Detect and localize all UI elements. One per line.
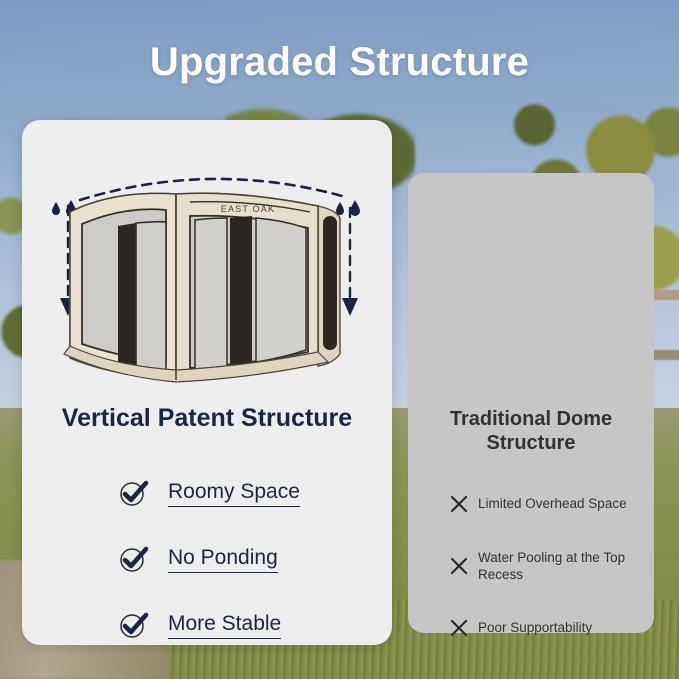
feature-item-roomy-space: Roomy Space <box>22 460 392 526</box>
vertical-drop-arrowhead-right <box>342 298 358 316</box>
check-circle-icon <box>118 610 148 640</box>
traditional-dome-card: Traditional Dome Structure Limited Overh… <box>408 173 654 633</box>
feature-label: More Stable <box>168 611 281 639</box>
drawback-item-limited-overhead-space: Limited Overhead Space <box>408 473 654 535</box>
feature-list: Roomy Space No Ponding M <box>22 460 392 658</box>
feature-item-more-stable: More Stable <box>22 592 392 658</box>
drawback-label: Poor Supportability <box>478 619 592 636</box>
x-mark-icon <box>450 557 468 575</box>
drawback-label: Water Pooling at the Top Recess <box>478 549 630 584</box>
feature-label: No Ponding <box>168 545 278 573</box>
drawback-label: Limited Overhead Space <box>478 495 627 512</box>
drawback-item-poor-supportability: Poor Supportability <box>408 597 654 659</box>
drawback-item-water-pooling: Water Pooling at the Top Recess <box>408 535 654 597</box>
product-comparison-image: Upgraded Structure <box>0 0 679 679</box>
x-mark-icon <box>450 619 468 637</box>
feature-item-no-ponding: No Ponding <box>22 526 392 592</box>
page-title: Upgraded Structure <box>0 40 679 85</box>
vertical-patent-card: EAST OAK Vertical Patent Structure <box>22 120 392 645</box>
feature-label: Roomy Space <box>168 479 300 507</box>
check-circle-icon <box>118 478 148 508</box>
traditional-dome-title-line1: Traditional Dome <box>450 408 612 430</box>
brand-logo-text: EAST OAK <box>221 204 275 214</box>
check-circle-icon <box>118 544 148 574</box>
vertical-patent-tent-body: EAST OAK <box>64 193 340 382</box>
vertical-patent-title: Vertical Patent Structure <box>22 404 392 433</box>
traditional-dome-title: Traditional Dome Structure <box>424 408 638 455</box>
x-mark-icon <box>450 495 468 513</box>
vertical-patent-tent-illustration: EAST OAK <box>40 150 380 390</box>
traditional-dome-title-line2: Structure <box>487 432 576 454</box>
drawback-list: Limited Overhead Space Water Pooling at … <box>408 473 654 659</box>
water-droplet-icon <box>336 200 360 216</box>
